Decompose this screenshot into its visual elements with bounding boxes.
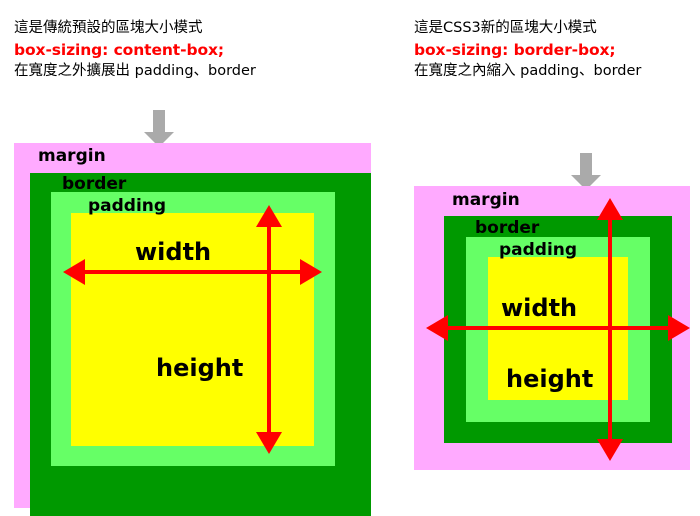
arrow-shaft bbox=[580, 153, 592, 175]
box-model-diagram-content-box: margin border padding width height bbox=[14, 143, 371, 508]
panel-border-box: 這是CSS3新的區塊大小模式 box-sizing: border-box; 在… bbox=[400, 0, 700, 514]
border-label: border bbox=[62, 176, 126, 193]
arrow-shaft bbox=[153, 110, 165, 132]
caption-line-3: 在寬度之內縮入 padding、border bbox=[414, 61, 641, 82]
grey-down-arrow-icon bbox=[144, 110, 174, 147]
margin-label: margin bbox=[452, 192, 520, 209]
height-arrowhead-up bbox=[597, 198, 623, 220]
caption-line-3: 在寬度之外擴展出 padding、border bbox=[14, 61, 256, 82]
caption-code-line: box-sizing: content-box; bbox=[14, 39, 256, 61]
caption-line-1: 這是CSS3新的區塊大小模式 bbox=[414, 18, 641, 39]
panel-content-box: 這是傳統預設的區塊大小模式 box-sizing: content-box; 在… bbox=[0, 0, 400, 514]
caption-border-box: 這是CSS3新的區塊大小模式 box-sizing: border-box; 在… bbox=[414, 18, 641, 81]
grey-down-arrow-icon bbox=[571, 153, 601, 190]
height-measure-arrow: height bbox=[71, 213, 314, 446]
height-measure-arrow: height bbox=[444, 216, 672, 443]
height-arrowhead-down bbox=[597, 439, 623, 461]
box-model-diagram-border-box: margin border padding width height bbox=[414, 186, 690, 470]
height-arrowhead-up bbox=[256, 205, 282, 227]
margin-label: margin bbox=[38, 148, 106, 165]
caption-content-box: 這是傳統預設的區塊大小模式 box-sizing: content-box; 在… bbox=[14, 18, 256, 81]
height-arrow-line bbox=[608, 216, 612, 443]
height-arrow-line bbox=[267, 213, 271, 446]
height-arrowhead-down bbox=[256, 432, 282, 454]
caption-line-1: 這是傳統預設的區塊大小模式 bbox=[14, 18, 256, 39]
caption-code-line: box-sizing: border-box; bbox=[414, 39, 641, 61]
height-label: height bbox=[506, 367, 593, 391]
height-label: height bbox=[156, 356, 243, 380]
